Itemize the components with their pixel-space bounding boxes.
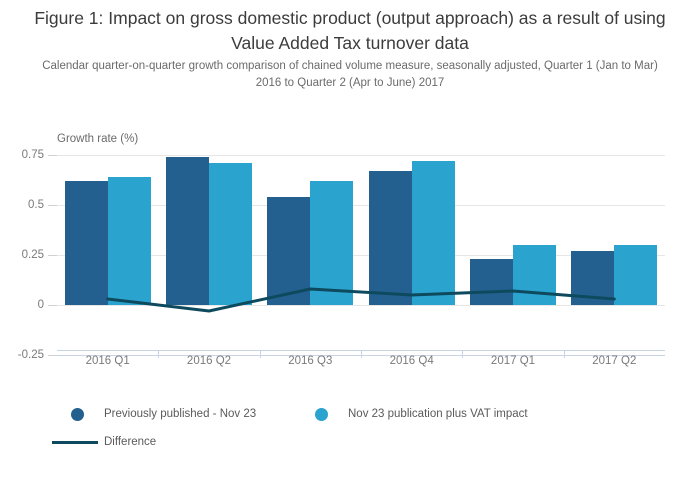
difference-line-path xyxy=(108,289,615,311)
x-tick-label-2016-q1: 2016 Q1 xyxy=(57,355,158,367)
y-tick-mark xyxy=(48,355,57,356)
y-tick-mark xyxy=(48,255,57,256)
y-tick-label: 0.75 xyxy=(22,149,44,161)
x-tick-label-2016-q4: 2016 Q4 xyxy=(361,355,462,367)
x-tick-label-2016-q2: 2016 Q2 xyxy=(158,355,259,367)
x-tick-label-2017-q1: 2017 Q1 xyxy=(462,355,563,367)
legend-marker-dot-light xyxy=(315,408,328,421)
legend-item-difference[interactable]: Difference xyxy=(52,428,156,456)
chart-title: Figure 1: Impact on gross domestic produ… xyxy=(30,6,670,56)
y-tick-label: -0.25 xyxy=(18,349,44,361)
legend-item-previously-published[interactable]: Previously published - Nov 23 xyxy=(71,400,256,428)
plot-area: 0.750.50.250-0.25 2016 Q12016 Q22016 Q32… xyxy=(57,155,665,355)
difference-line xyxy=(57,155,665,355)
y-tick-label: 0 xyxy=(38,299,44,311)
legend: Previously published - Nov 23 Nov 23 pub… xyxy=(57,400,677,456)
figure-container: Figure 1: Impact on gross domestic produ… xyxy=(0,0,700,502)
y-tick-label: 0.5 xyxy=(28,199,44,211)
y-axis-label: Growth rate (%) xyxy=(57,133,138,145)
legend-marker-dot-dark xyxy=(71,408,84,421)
legend-marker-line xyxy=(52,441,98,444)
chart-subtitle: Calendar quarter-on-quarter growth compa… xyxy=(30,58,670,92)
x-tick-label-2017-q2: 2017 Q2 xyxy=(564,355,665,367)
x-tick-label-2016-q3: 2016 Q3 xyxy=(260,355,361,367)
legend-label-previously-published: Previously published - Nov 23 xyxy=(104,408,256,420)
legend-item-vat-impact[interactable]: Nov 23 publication plus VAT impact xyxy=(315,400,528,428)
y-tick-mark xyxy=(48,205,57,206)
legend-row-2: Difference xyxy=(57,428,677,456)
y-tick-mark xyxy=(48,155,57,156)
legend-label-difference: Difference xyxy=(104,436,156,448)
legend-row-1: Previously published - Nov 23 Nov 23 pub… xyxy=(57,400,677,428)
y-tick-mark xyxy=(48,305,57,306)
legend-label-vat-impact: Nov 23 publication plus VAT impact xyxy=(348,408,528,420)
y-tick-label: 0.25 xyxy=(22,249,44,261)
